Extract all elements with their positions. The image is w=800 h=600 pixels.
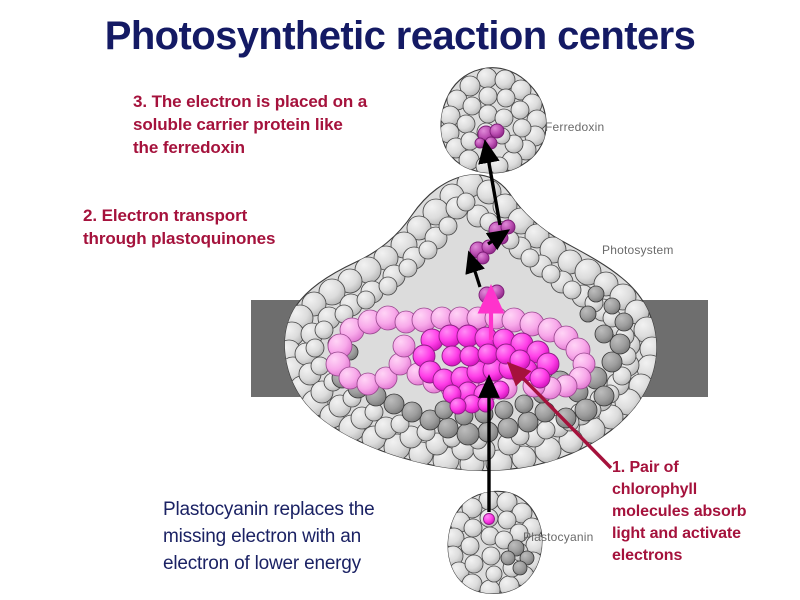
ferredoxin-protein <box>439 68 547 176</box>
callout-step-3: 3. The electron is placed on a soluble c… <box>133 90 367 159</box>
copper-site <box>484 514 495 525</box>
callout-plastocyanin-note-line-2: missing electron with an <box>163 523 375 550</box>
figure-label-plastocyanin: Plastocyanin <box>523 530 593 544</box>
pointer-arrow-red <box>516 371 611 468</box>
quinone-hop-arrow-2 <box>488 236 500 244</box>
figure-label-ferredoxin: Ferredoxin <box>545 120 604 134</box>
membrane-bar <box>251 300 708 397</box>
page-title: Photosynthetic reaction centers <box>0 13 800 59</box>
callout-step-1-line-5: electrons <box>612 545 746 567</box>
callout-step-1-line-2: chlorophyll <box>612 479 746 501</box>
callout-step-1-line-1: 1. Pair of <box>612 457 746 479</box>
callout-plastocyanin-note-line-3: electron of lower energy <box>163 550 375 577</box>
plastoquinone-chain <box>470 220 515 309</box>
callout-step-2-line-2: through plastoquinones <box>83 227 275 250</box>
figure-label-photosystem: Photosystem <box>602 243 674 257</box>
callout-step-1-line-3: molecules absorb <box>612 501 746 523</box>
electron-arrow-up-to-ferredoxin <box>487 152 500 225</box>
callout-plastocyanin-note: Plastocyanin replaces the missing electr… <box>163 496 375 577</box>
callout-plastocyanin-note-line-1: Plastocyanin replaces the <box>163 496 375 523</box>
callout-step-2: 2. Electron transport through plastoquin… <box>83 204 275 250</box>
photosystem-protein <box>277 171 664 476</box>
slide-canvas: Photosynthetic reaction centers 3. The e… <box>0 0 800 600</box>
callout-step-3-line-1: 3. The electron is placed on a <box>133 90 367 113</box>
callout-step-3-line-3: the ferredoxin <box>133 136 367 159</box>
callout-step-3-line-2: soluble carrier protein like <box>133 113 367 136</box>
plastocyanin-protein <box>443 490 546 600</box>
callout-step-1-line-4: light and activate <box>612 523 746 545</box>
callout-step-1: 1. Pair of chlorophyll molecules absorb … <box>612 457 746 567</box>
quinone-hop-arrow-1 <box>472 262 480 287</box>
callout-step-2-line-1: 2. Electron transport <box>83 204 275 227</box>
